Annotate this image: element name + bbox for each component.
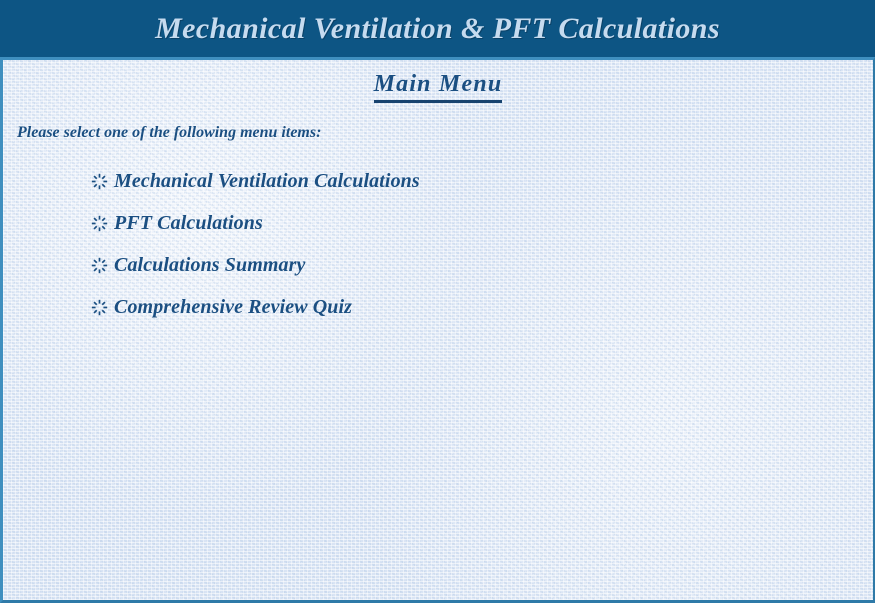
menu-item-pft-calculations[interactable]: PFT Calculations [91,203,263,245]
menu-item-label: Comprehensive Review Quiz [114,296,352,319]
sunburst-icon [91,299,108,316]
menu-item-label: Calculations Summary [114,254,306,277]
content-area: Main Menu Please select one of the follo… [3,60,873,600]
sunburst-icon [91,215,108,232]
menu-item-mechanical-ventilation-calculations[interactable]: Mechanical Ventilation Calculations [91,161,420,203]
menu-item-label: PFT Calculations [114,212,263,235]
main-menu-list: Mechanical Ventilation Calculations [91,161,873,329]
menu-item-label: Mechanical Ventilation Calculations [114,170,420,193]
menu-item-calculations-summary[interactable]: Calculations Summary [91,245,306,287]
instruction-text: Please select one of the following menu … [17,124,873,142]
menu-item-comprehensive-review-quiz[interactable]: Comprehensive Review Quiz [91,287,352,329]
content-frame: Main Menu Please select one of the follo… [0,57,875,603]
page-heading-container: Main Menu [3,60,873,103]
sunburst-icon [91,173,108,190]
app-header: Mechanical Ventilation & PFT Calculation… [0,0,875,57]
sunburst-icon [91,257,108,274]
application-window: Mechanical Ventilation & PFT Calculation… [0,0,875,603]
page-title: Main Menu [374,71,503,103]
app-title: Mechanical Ventilation & PFT Calculation… [155,12,720,46]
